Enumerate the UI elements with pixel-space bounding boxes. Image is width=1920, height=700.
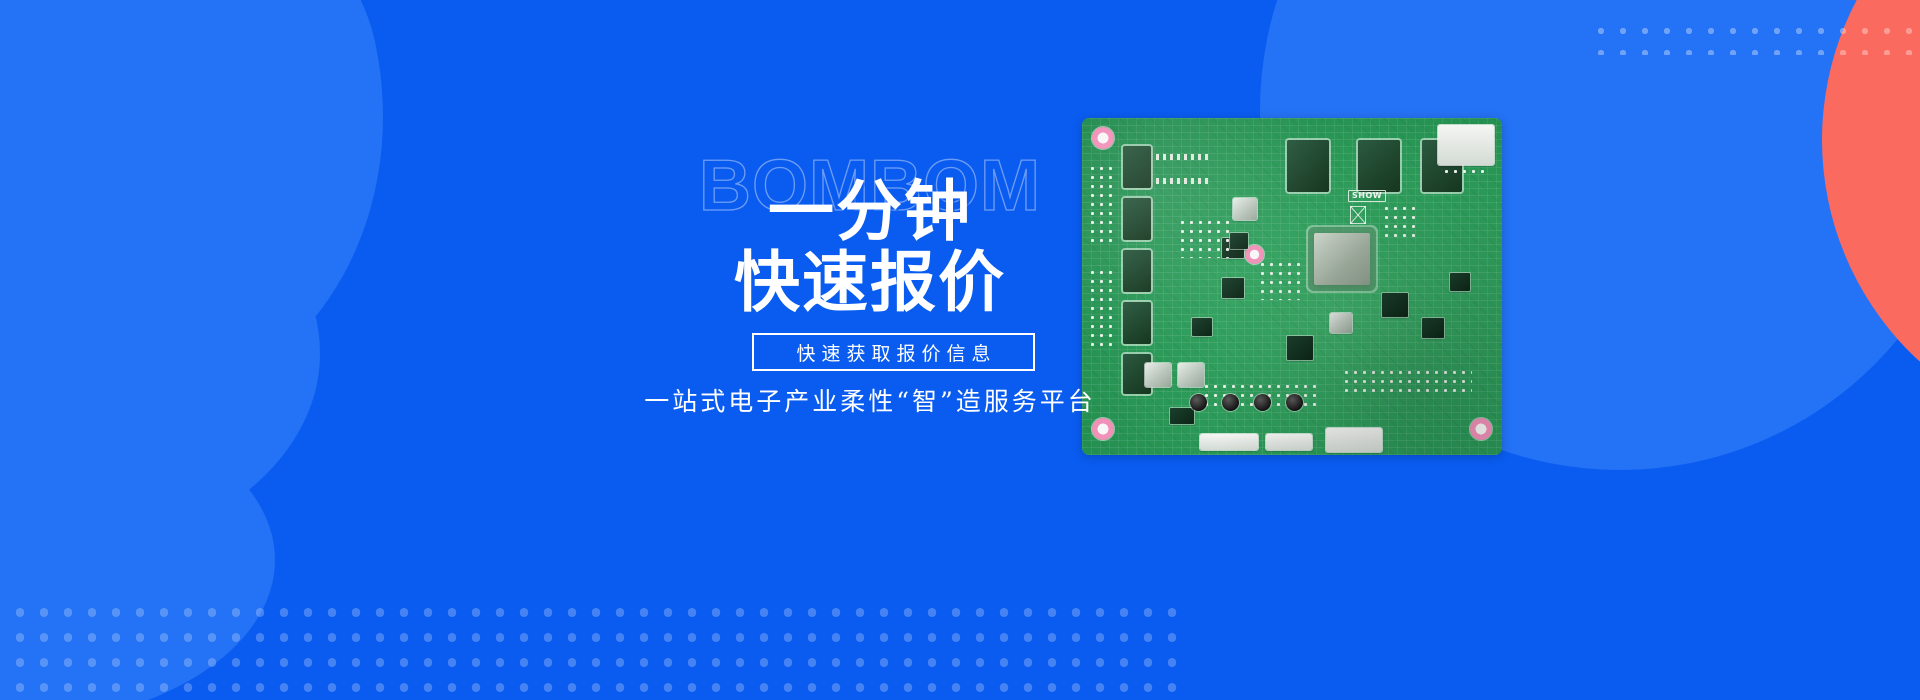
edge-connector — [1266, 434, 1312, 450]
memory-chip — [1123, 146, 1151, 188]
silkscreen-brand-label: SHOW — [1348, 190, 1386, 202]
mounting-hole — [1245, 245, 1264, 264]
inductor — [1233, 198, 1257, 220]
tagline: 一站式电子产业柔性“智”造服务平台 — [500, 382, 1240, 418]
connector-pads — [1442, 167, 1490, 176]
sd-card-connector — [1438, 125, 1494, 165]
mounting-hole — [1470, 418, 1492, 440]
ic-chip — [1422, 318, 1444, 338]
page-title: 一分钟 快速报价 — [640, 178, 1100, 317]
ic-chip — [1450, 273, 1470, 291]
pad-array — [1178, 218, 1234, 258]
inductor — [1330, 313, 1352, 333]
dram-chip — [1358, 140, 1400, 192]
ic-chip — [1192, 318, 1212, 336]
promo-banner: SHOW BOMBOM — [0, 0, 1920, 700]
headline-group: BOMBOM 一分钟 快速报价 快速获取报价信息 一站式电子产业柔性“智”造服务… — [640, 150, 1100, 440]
ic-chip — [1222, 238, 1244, 258]
capacitor — [1286, 394, 1303, 411]
memory-chip — [1123, 302, 1151, 344]
ic-chip — [1222, 278, 1244, 298]
get-quote-button[interactable]: 快速获取报价信息 — [752, 333, 1035, 371]
capacitor — [1254, 394, 1271, 411]
memory-chip — [1123, 250, 1151, 292]
smd-component-row — [1156, 154, 1208, 160]
pad-array — [1342, 368, 1472, 394]
memory-chip — [1123, 198, 1151, 240]
no-trash-silkscreen-icon — [1350, 206, 1366, 224]
headline-line-1: 一分钟 — [768, 173, 972, 250]
ic-chip — [1230, 233, 1248, 249]
mounting-hole — [1470, 127, 1492, 149]
ic-chip — [1382, 293, 1408, 317]
main-processor-chip — [1314, 233, 1370, 285]
ic-chip — [1287, 336, 1313, 360]
edge-connector — [1200, 434, 1258, 450]
dram-chip — [1287, 140, 1329, 192]
pad-array — [1258, 260, 1302, 300]
dram-chip — [1422, 140, 1462, 192]
pad-array — [1382, 204, 1418, 240]
smd-component-row — [1156, 178, 1208, 184]
get-quote-button-label: 快速获取报价信息 — [790, 339, 996, 366]
mounting-hole — [1092, 127, 1114, 149]
edge-connector — [1326, 428, 1382, 452]
headline-line-2: 快速报价 — [640, 249, 1100, 316]
